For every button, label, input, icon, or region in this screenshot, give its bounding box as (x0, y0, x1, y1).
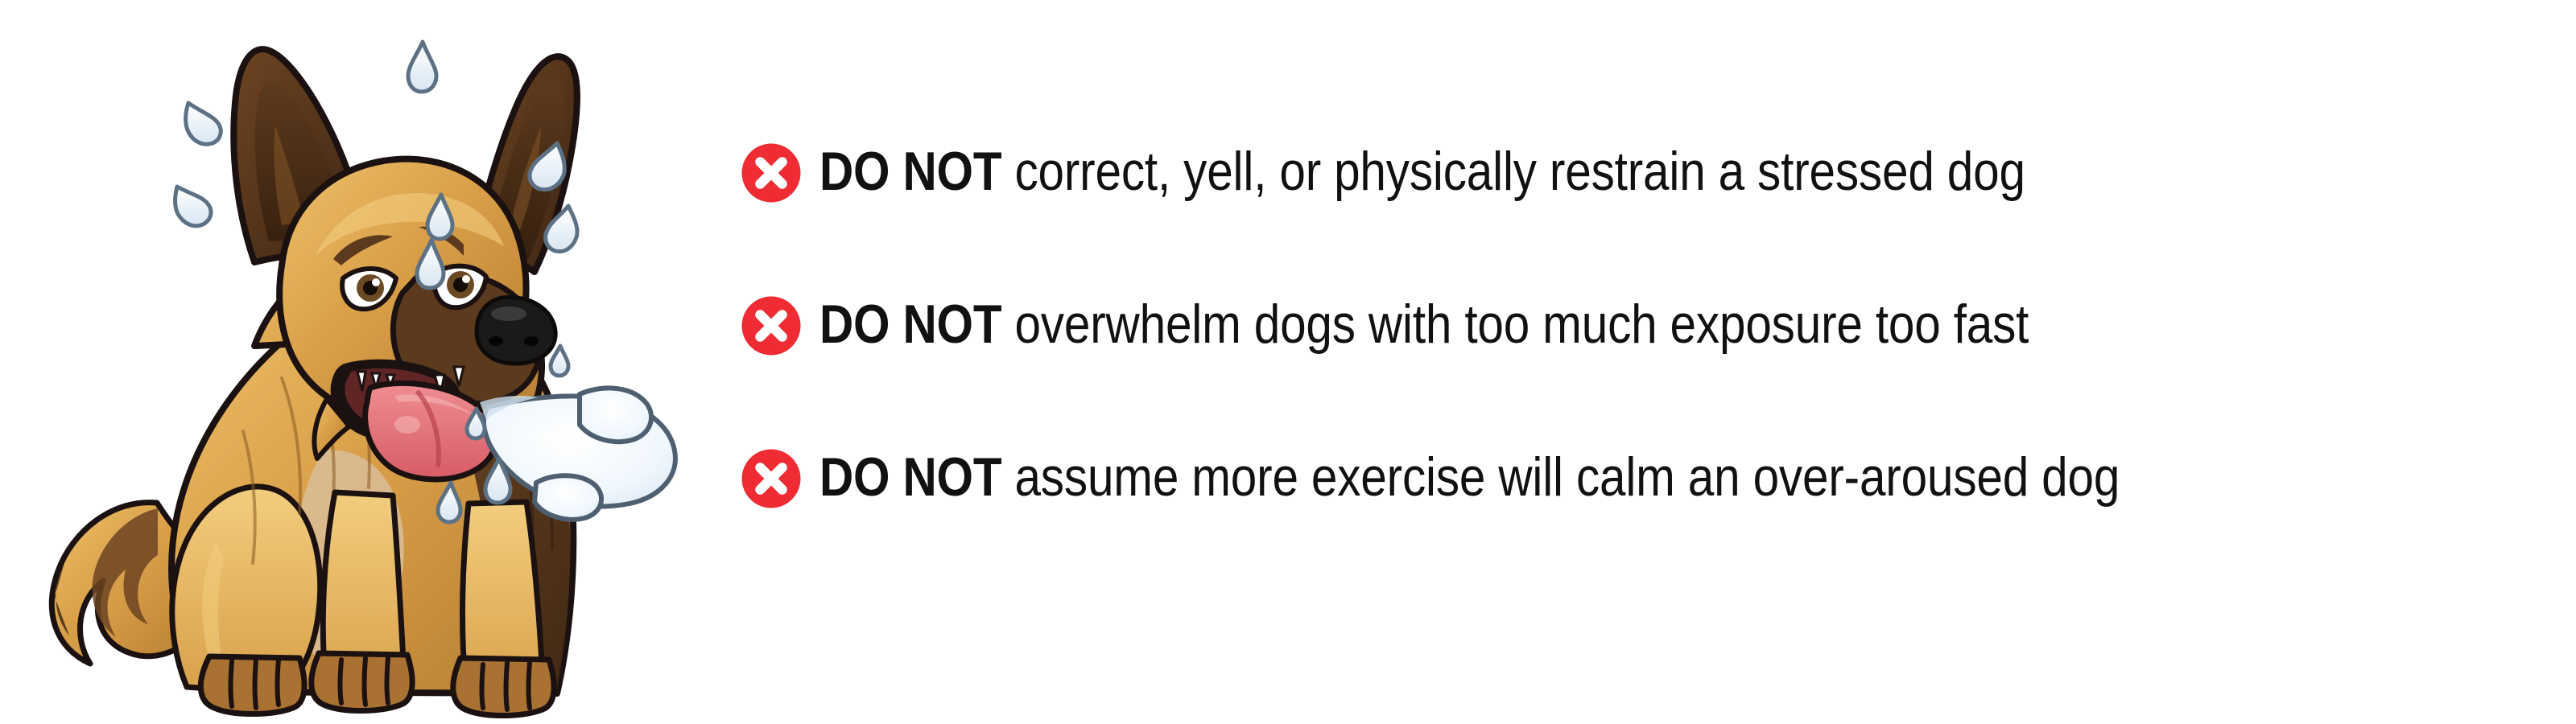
error-x-circle-icon (741, 142, 802, 204)
warning-text-2: DO NOT overwhelm dogs with too much expo… (819, 297, 2029, 352)
warning-body-3: assume more exercise will calm an over-a… (1001, 446, 2120, 508)
warning-prefix-3: DO NOT (819, 446, 1001, 508)
warning-prefix-2: DO NOT (819, 294, 1001, 355)
warning-text-1: DO NOT correct, yell, or physically rest… (819, 144, 2025, 199)
error-x-circle-icon (741, 448, 802, 509)
warning-body-1: correct, yell, or physically restrain a … (1001, 141, 2025, 202)
error-x-circle-icon (741, 295, 802, 356)
warning-prefix-1: DO NOT (819, 141, 1001, 202)
warning-line-3: DO NOT assume more exercise will calm an… (741, 401, 2544, 553)
warning-body-2: overwhelm dogs with too much exposure to… (1001, 294, 2029, 355)
warning-line-1: DO NOT correct, yell, or physically rest… (741, 95, 2544, 248)
warning-lines: DO NOT correct, yell, or physically rest… (741, 95, 2544, 553)
panting-dog-illustration (16, 0, 708, 724)
warning-line-2: DO NOT overwhelm dogs with too much expo… (741, 248, 2544, 401)
warning-text-3: DO NOT assume more exercise will calm an… (819, 450, 2120, 504)
dog-group (52, 42, 675, 716)
warning-banner: DO NOT correct, yell, or physically rest… (0, 0, 2576, 724)
